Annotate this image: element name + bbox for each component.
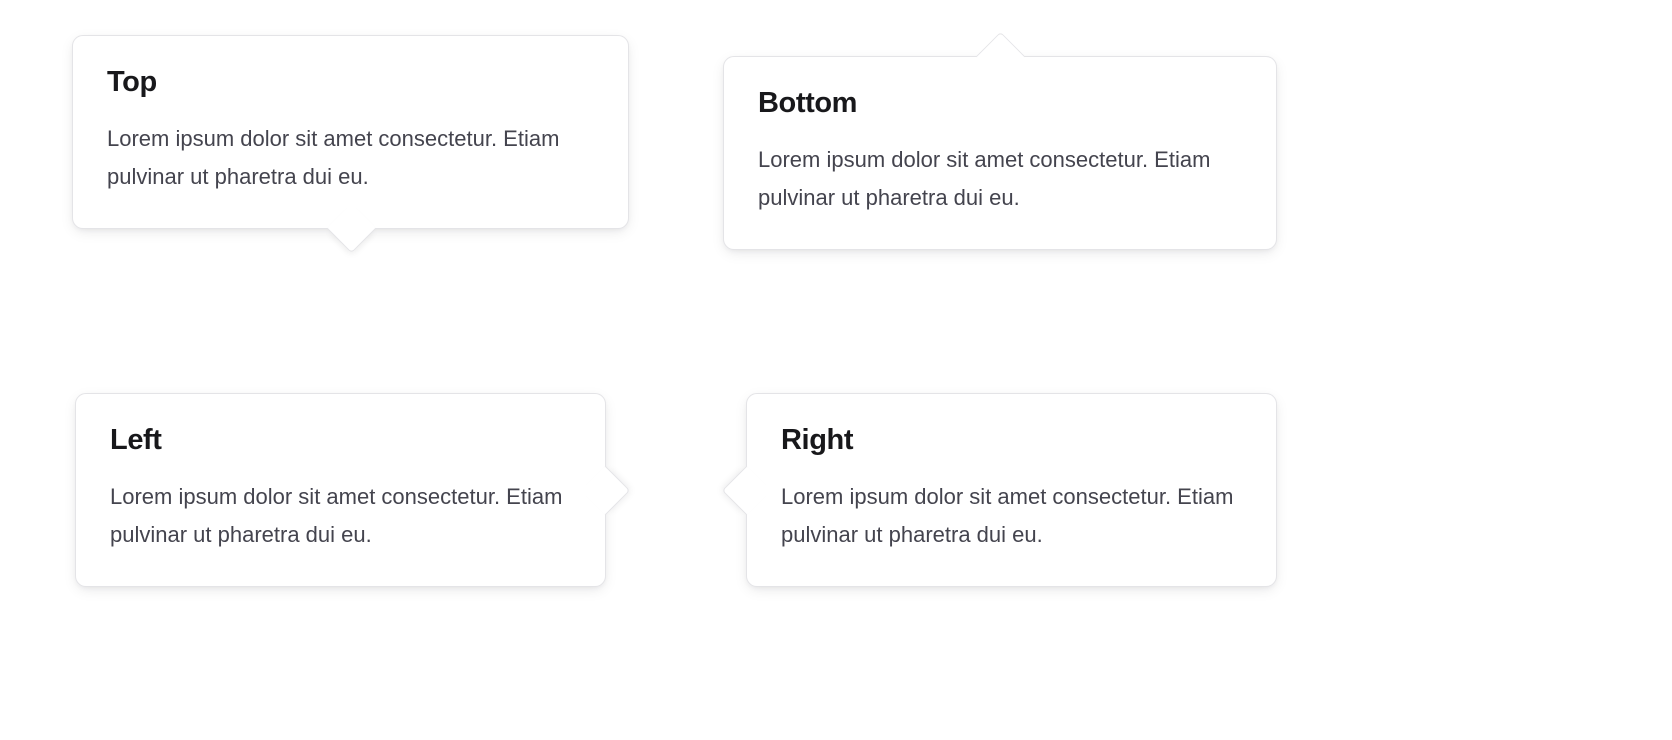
tooltip-top-body: Lorem ipsum dolor sit amet consectetur. … — [107, 120, 594, 196]
tooltip-top[interactable]: Top Lorem ipsum dolor sit amet consectet… — [72, 35, 629, 229]
tooltip-bottom[interactable]: Bottom Lorem ipsum dolor sit amet consec… — [723, 56, 1277, 250]
tooltip-arrow-right-icon — [581, 466, 630, 515]
tooltip-top-title: Top — [107, 66, 594, 98]
tooltip-bottom-title: Bottom — [758, 87, 1242, 119]
tooltip-bottom-body: Lorem ipsum dolor sit amet consectetur. … — [758, 141, 1242, 217]
tooltip-left-title: Left — [110, 424, 571, 456]
tooltip-right-body: Lorem ipsum dolor sit amet consectetur. … — [781, 478, 1242, 554]
tooltip-left[interactable]: Left Lorem ipsum dolor sit amet consecte… — [75, 393, 606, 587]
tooltip-arrow-down-icon — [326, 204, 375, 253]
tooltip-arrow-up-icon — [976, 32, 1025, 81]
tooltip-showcase-stage: Top Lorem ipsum dolor sit amet consectet… — [0, 0, 1672, 740]
tooltip-right-title: Right — [781, 424, 1242, 456]
tooltip-right[interactable]: Right Lorem ipsum dolor sit amet consect… — [746, 393, 1277, 587]
tooltip-left-body: Lorem ipsum dolor sit amet consectetur. … — [110, 478, 571, 554]
tooltip-arrow-left-icon — [722, 466, 771, 515]
